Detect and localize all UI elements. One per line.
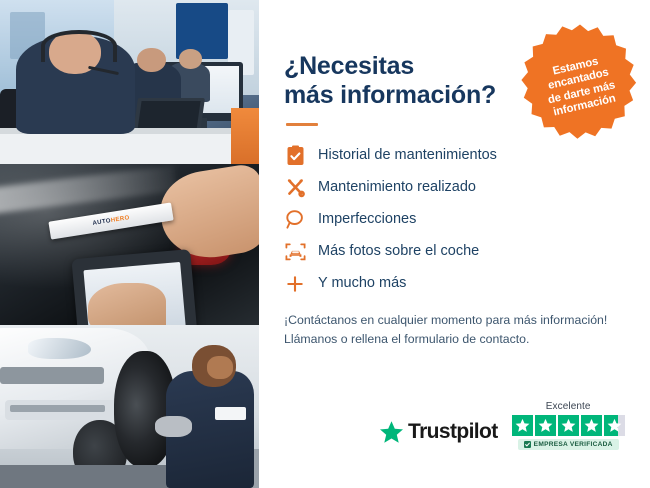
clipboard-check-icon: [284, 145, 306, 167]
mechanic-uniform-badge: [215, 407, 246, 420]
trustpilot-widget[interactable]: Trustpilot Excelente: [379, 401, 625, 450]
contact-copy-line-2: Llámanos o rellena el formulario de cont…: [284, 332, 529, 346]
contact-promo-card: AUTOHERO ¿Necesitas más información?: [0, 0, 650, 488]
page-title: ¿Necesitas más información?: [284, 52, 524, 111]
title-divider: [286, 123, 318, 126]
trustpilot-stars: [512, 415, 625, 436]
badge-text: Estamos encantados de darte más informac…: [527, 50, 632, 123]
feature-list: Historial de mantenimientos Mantenimient…: [284, 145, 626, 295]
trustpilot-rating-label: Excelente: [546, 401, 591, 412]
feature-label: Mantenimiento realizado: [318, 180, 476, 196]
car-inspection-photo: AUTOHERO: [0, 164, 259, 325]
call-center-agents-photo: [0, 0, 259, 164]
page-title-line-2: más información?: [284, 81, 496, 109]
page-title-line-1: ¿Necesitas: [284, 52, 414, 80]
mechanic-wheel-photo: [0, 325, 259, 488]
car-bumper: [5, 400, 119, 420]
star-icon-4: [581, 415, 602, 436]
agent-head-2: [137, 48, 165, 73]
car-headlight: [28, 338, 90, 359]
verified-check-icon: [524, 441, 531, 448]
verified-company-badge: EMPRESA VERIFICADA: [518, 439, 619, 450]
feature-label: Más fotos sobre el coche: [318, 244, 479, 260]
ruler-brand-label: AUTOHERO: [92, 215, 130, 227]
ruler-brand-hero: HERO: [111, 215, 131, 224]
car-lift-ramp: [0, 465, 186, 488]
agent-head-3: [179, 49, 202, 69]
star-icon-5-partial: [604, 415, 625, 436]
feature-item-maintenance-done: Mantenimiento realizado: [284, 177, 626, 199]
star-icon-1: [512, 415, 533, 436]
contact-copy: ¡Contáctanos en cualquier momento para m…: [284, 311, 626, 351]
trustpilot-logo-text: Trustpilot: [408, 420, 498, 444]
trustpilot-star-icon: [379, 420, 404, 444]
tools-icon: [284, 177, 306, 199]
photo-collage: AUTOHERO: [0, 0, 259, 488]
star-icon-2: [535, 415, 556, 436]
car-scan-icon: [284, 241, 306, 263]
info-badge: Estamos encantados de darte más informac…: [516, 22, 644, 150]
ruler-brand-auto: AUTO: [92, 218, 111, 227]
trustpilot-logo[interactable]: Trustpilot: [379, 420, 498, 450]
mechanic-glove: [155, 416, 191, 437]
inspector-hand-lower: [88, 283, 166, 325]
feature-label: Imperfecciones: [318, 212, 416, 228]
plus-icon: [284, 273, 306, 295]
mechanic-face: [207, 356, 233, 379]
feature-label: Y mucho más: [318, 276, 406, 292]
feature-item-much-more: Y mucho más: [284, 273, 626, 295]
contact-copy-line-1: ¡Contáctanos en cualquier momento para m…: [284, 313, 607, 327]
headset-band: [41, 30, 116, 62]
car-grille: [0, 367, 104, 383]
feature-item-imperfections: Imperfecciones: [284, 209, 626, 231]
content-panel: ¿Necesitas más información? Historial de…: [259, 0, 650, 488]
star-icon-3: [558, 415, 579, 436]
feature-item-more-photos: Más fotos sobre el coche: [284, 241, 626, 263]
trustpilot-rating: Excelente: [512, 401, 625, 450]
magnifier-icon: [284, 209, 306, 231]
verified-company-label: EMPRESA VERIFICADA: [534, 441, 613, 448]
orange-equipment: [231, 108, 259, 164]
feature-label: Historial de mantenimientos: [318, 148, 497, 164]
